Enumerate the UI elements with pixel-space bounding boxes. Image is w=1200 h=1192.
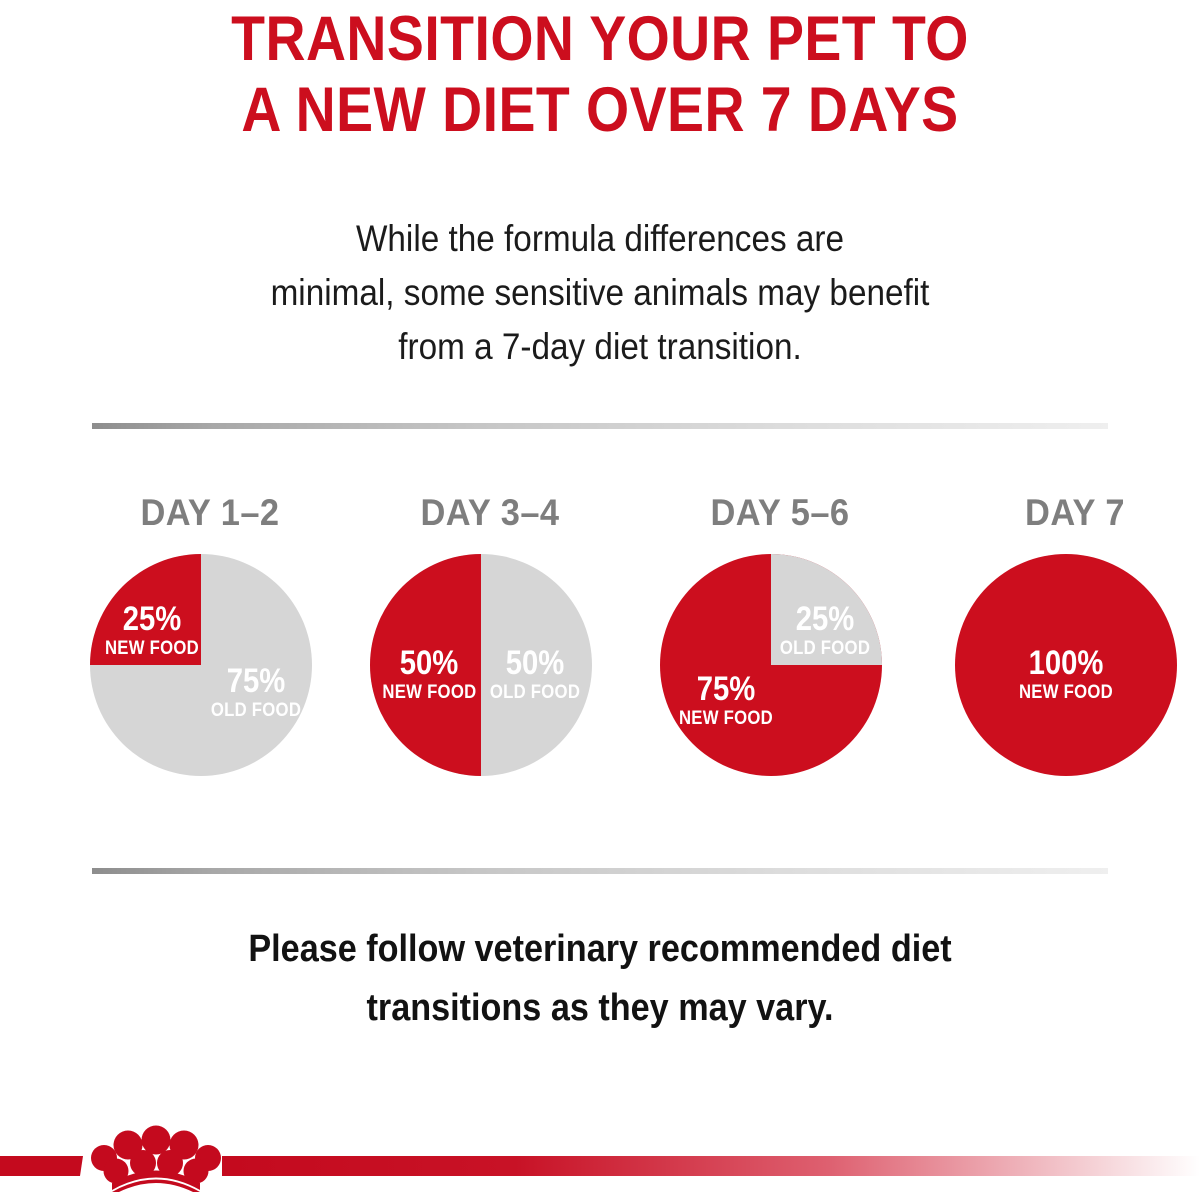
- closing-paragraph: Please follow veterinary recommended die…: [60, 920, 1140, 1038]
- intro-paragraph: While the formula differences are minima…: [60, 212, 1140, 374]
- pie-svg-day-1-2: [90, 554, 312, 776]
- pie-cell-day-1-2: DAY 1–2 25% NEW FOOD 75% OLD FOOD: [80, 492, 340, 812]
- day-label-5-6: DAY 5–6: [659, 492, 901, 534]
- page-title: TRANSITION YOUR PET TO A NEW DIET OVER 7…: [72, 4, 1128, 146]
- day-label-3-4: DAY 3–4: [369, 492, 611, 534]
- slice-old-food: [771, 554, 882, 665]
- intro-line-3: from a 7-day diet transition.: [60, 320, 1140, 374]
- pie-cell-day-5-6: DAY 5–6 25% OLD FOOD 75% NEW FOOD: [650, 492, 910, 812]
- intro-line-2: minimal, some sensitive animals may bene…: [60, 266, 1140, 320]
- slice-new-food: [370, 554, 481, 776]
- pie-chart-day-1-2: 25% NEW FOOD 75% OLD FOOD: [90, 554, 312, 776]
- day-label-7: DAY 7: [954, 492, 1196, 534]
- intro-line-1: While the formula differences are: [60, 212, 1140, 266]
- footer-logo-bar: [0, 1118, 1200, 1192]
- pie-svg-day-5-6: [660, 554, 882, 776]
- pie-svg-day-7: [955, 554, 1177, 776]
- pie-chart-row: DAY 1–2 25% NEW FOOD 75% OLD FOOD DAY 3–…: [0, 492, 1200, 812]
- logo-bar-left: [0, 1156, 83, 1176]
- slice-new-food: [90, 554, 201, 665]
- title-line-2: A NEW DIET OVER 7 DAYS: [72, 75, 1128, 146]
- pie-cell-day-7: DAY 7 100% NEW FOOD: [945, 492, 1200, 812]
- logo-bar-right: [222, 1156, 1200, 1176]
- day-label-1-2: DAY 1–2: [89, 492, 331, 534]
- divider-bottom: [92, 868, 1108, 874]
- infographic-root: TRANSITION YOUR PET TO A NEW DIET OVER 7…: [0, 0, 1200, 1192]
- crown-dot: [142, 1126, 171, 1155]
- closing-line-1: Please follow veterinary recommended die…: [60, 920, 1140, 979]
- royal-canin-crown-logo: [0, 1118, 1200, 1192]
- pie-svg-day-3-4: [370, 554, 592, 776]
- pie-chart-day-5-6: 25% OLD FOOD 75% NEW FOOD: [660, 554, 882, 776]
- slice-new-food: [955, 554, 1177, 776]
- closing-line-2: transitions as they may vary.: [60, 979, 1140, 1038]
- pie-cell-day-3-4: DAY 3–4 50% NEW FOOD 50% OLD FOOD: [360, 492, 620, 812]
- title-line-1: TRANSITION YOUR PET TO: [72, 4, 1128, 75]
- divider-top: [92, 423, 1108, 429]
- pie-chart-day-3-4: 50% NEW FOOD 50% OLD FOOD: [370, 554, 592, 776]
- pie-chart-day-7: 100% NEW FOOD: [955, 554, 1177, 776]
